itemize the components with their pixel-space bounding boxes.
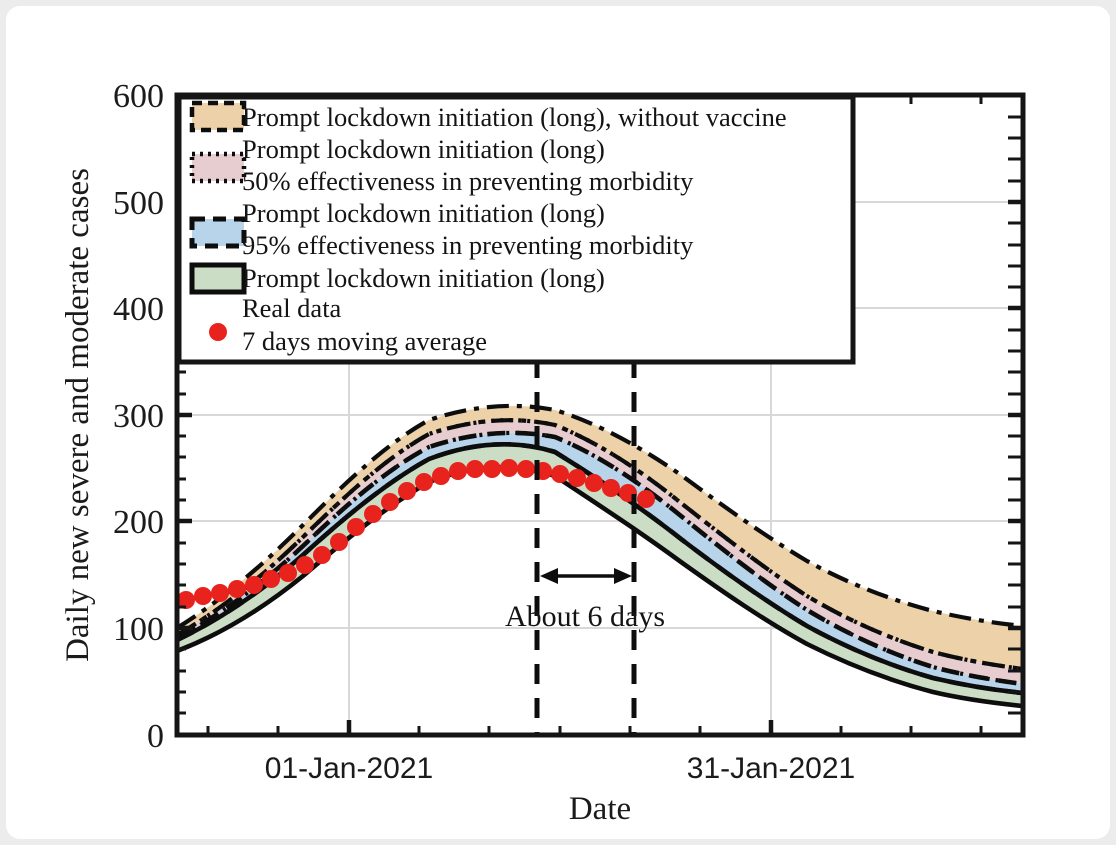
legend-swatch-50pct [192,154,244,181]
legend-label-50pct-line1: Prompt lockdown initiation (long) [242,134,605,164]
annotation-label: About 6 days [505,600,665,633]
legend-swatch-prompt-lockdown [192,265,244,292]
y-tick-label-0: 0 [147,718,164,755]
y-tick-label-100: 100 [113,611,164,648]
legend-label-without-vaccine: Prompt lockdown initiation (long), witho… [242,102,787,132]
y-tick-label-200: 200 [113,504,164,541]
chart-figure: About 6 days [6,6,1110,839]
legend-label-50pct-line2: 50% effectiveness in preventing morbidit… [242,166,694,196]
y-axis-title: Daily new severe and moderate cases [60,168,96,662]
figure-card: About 6 days [6,6,1110,839]
legend-label-real-data-line2: 7 days moving average [242,326,487,356]
legend-label-95pct-line1: Prompt lockdown initiation (long) [242,198,605,228]
legend-label-real-data-line1: Real data [242,293,342,323]
x-axis-title: Date [569,791,631,827]
legend-marker-real-data-icon [209,323,227,341]
y-tick-label-600: 600 [113,78,164,115]
legend-label-95pct-line2: 95% effectiveness in preventing morbidit… [242,230,694,260]
legend-swatch-without-vaccine [192,103,244,130]
x-tick-label-jan01: 01-Jan-2021 [265,752,433,785]
chart-svg: About 6 days [6,6,1110,839]
legend[interactable]: Prompt lockdown initiation (long), witho… [179,97,853,362]
legend-label-prompt-lockdown: Prompt lockdown initiation (long) [242,263,605,293]
y-tick-label-400: 400 [113,291,164,328]
y-tick-label-500: 500 [113,185,164,222]
y-tick-label-300: 300 [113,398,164,435]
legend-swatch-95pct [192,219,244,246]
x-tick-label-jan31: 31-Jan-2021 [687,752,855,785]
